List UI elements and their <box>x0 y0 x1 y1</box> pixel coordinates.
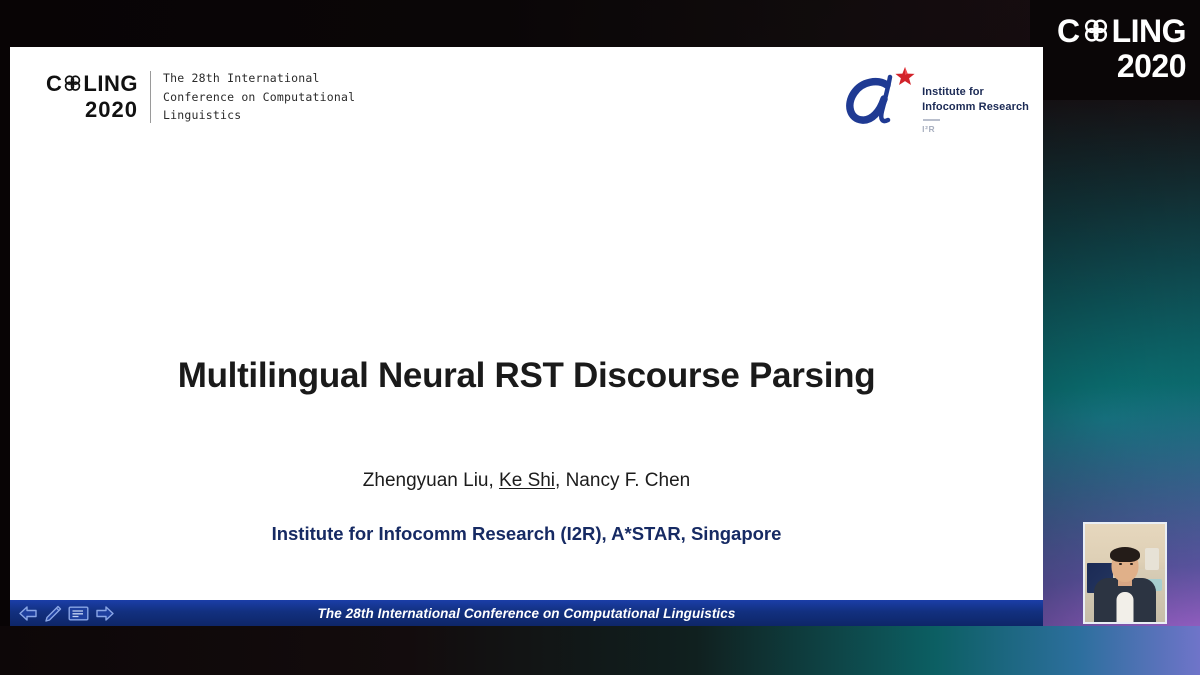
webcam-person-eye-left <box>1119 563 1122 565</box>
watermark-c: C <box>1057 15 1080 47</box>
i2r-rule <box>923 119 940 121</box>
slide-body: Multilingual Neural RST Discourse Parsin… <box>10 157 1043 675</box>
webcam-object <box>1145 548 1159 570</box>
next-slide-arrow-icon[interactable] <box>95 605 115 622</box>
coling-logo-c: C <box>46 72 62 95</box>
coling-logo-tagline: The 28th International Conference on Com… <box>163 69 355 125</box>
i2r-wordmark: Institute for Infocomm Research I²R <box>922 63 1029 134</box>
coling-logo-ling: LING <box>83 72 138 95</box>
i2r-line-1: Institute for <box>922 85 1029 100</box>
webcam-person-eye-right <box>1130 563 1133 565</box>
interlocking-rings-icon <box>1081 16 1111 46</box>
control-bar-title: The 28th International Conference on Com… <box>10 606 1043 621</box>
coling-slide-logo: C LING 2020 The 28th International <box>46 69 355 125</box>
tagline-line-3: Linguistics <box>163 106 355 125</box>
presentation-slide[interactable]: C LING 2020 The 28th International <box>10 47 1043 600</box>
author-presenter: Ke Shi <box>499 470 555 491</box>
astar-a-mark-icon <box>838 63 918 135</box>
coling-logo-wordmark: C LING 2020 <box>46 69 138 125</box>
author-part-2: , Nancy F. Chen <box>555 470 690 491</box>
watermark-line1: C LING <box>1057 15 1186 47</box>
slide-header: C LING 2020 The 28th International <box>10 47 1043 157</box>
coling-watermark: C LING 2020 <box>1030 0 1200 100</box>
slide-title: Multilingual Neural RST Discourse Parsin… <box>10 356 1043 396</box>
presenter-control-bar[interactable]: The 28th International Conference on Com… <box>10 600 1043 626</box>
i2r-logo: Institute for Infocomm Research I²R <box>838 63 1029 135</box>
author-part-1: Zhengyuan Liu, <box>363 470 499 491</box>
pen-annotation-icon[interactable] <box>44 605 62 622</box>
presenter-control-icons <box>10 605 115 622</box>
interlocking-rings-icon <box>62 73 83 94</box>
webcam-person-shirt <box>1117 592 1134 622</box>
i2r-abbreviation: I²R <box>922 124 1029 134</box>
presenter-webcam-thumbnail[interactable] <box>1083 522 1167 624</box>
slide-affiliation: Institute for Infocomm Research (I2R), A… <box>10 523 1043 545</box>
astar-star-icon <box>896 67 915 85</box>
coling-logo-line1: C LING <box>46 72 138 95</box>
previous-slide-arrow-icon[interactable] <box>18 605 38 622</box>
watermark-ling: LING <box>1112 15 1186 47</box>
i2r-line-2: Infocomm Research <box>922 100 1029 115</box>
logo-divider <box>150 71 151 123</box>
slide-menu-icon[interactable] <box>68 605 89 622</box>
tagline-line-1: The 28th International <box>163 69 355 88</box>
webcam-person-hair <box>1110 547 1140 562</box>
coling-logo-year: 2020 <box>85 97 138 122</box>
slide-authors: Zhengyuan Liu, Ke Shi, Nancy F. Chen <box>10 470 1043 492</box>
tagline-line-2: Conference on Computational <box>163 88 355 107</box>
watermark-year: 2020 <box>1117 50 1186 84</box>
